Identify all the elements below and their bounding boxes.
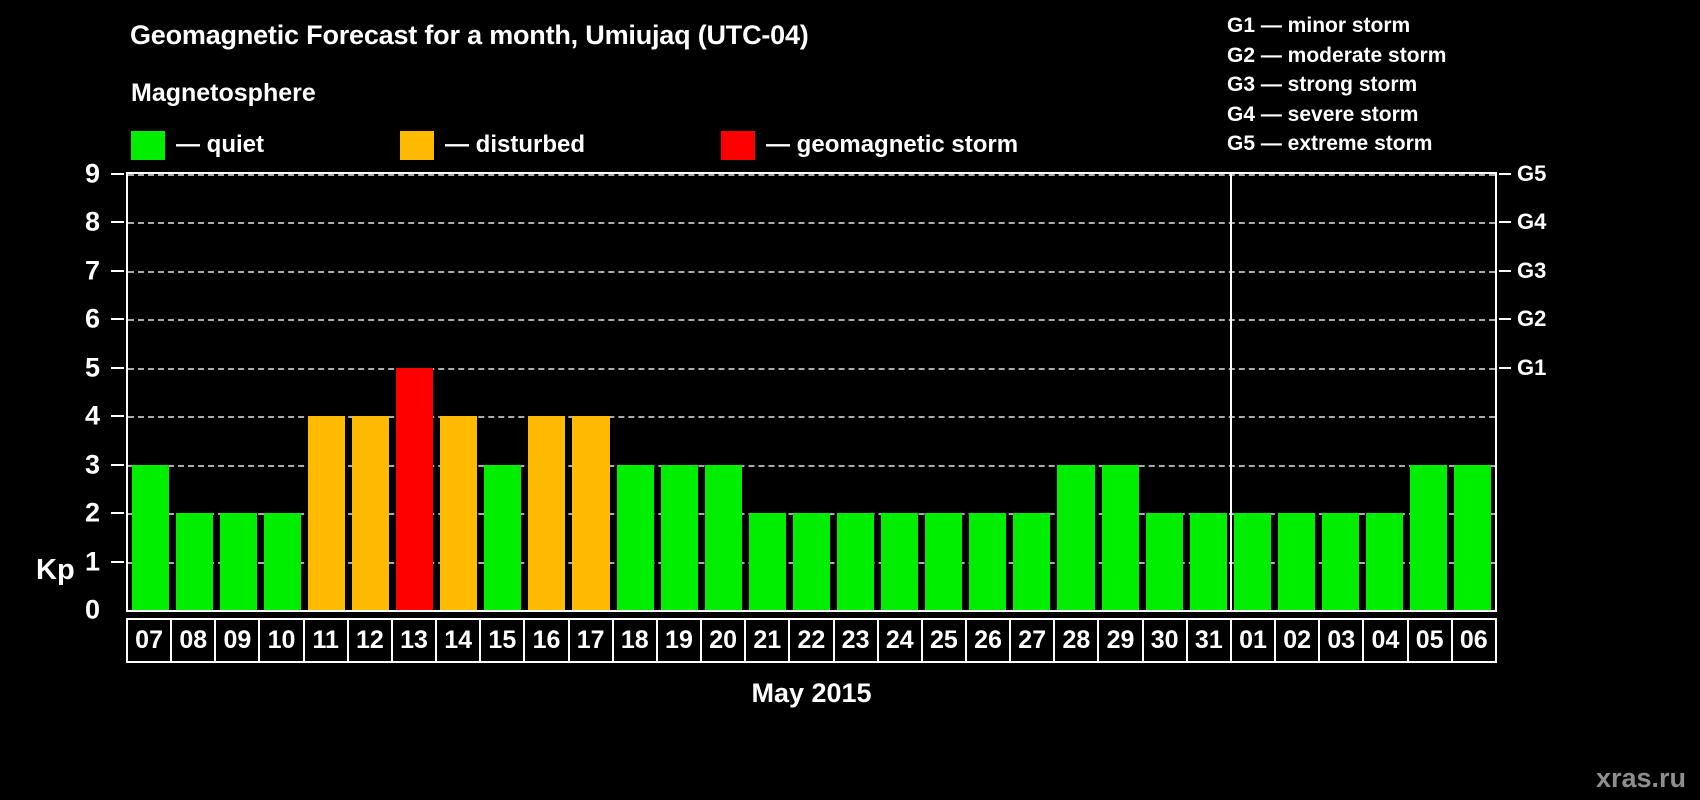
bar xyxy=(1410,465,1447,610)
date-cell: 23 xyxy=(833,620,877,661)
storm-scale-line: G2 — moderate storm xyxy=(1227,41,1446,71)
bar-slot xyxy=(878,174,922,610)
y-tick-mark xyxy=(111,221,124,223)
legend-item: — quiet xyxy=(131,131,264,160)
date-cell: 31 xyxy=(1186,620,1230,661)
legend-heading: Magnetosphere xyxy=(131,79,316,108)
bar xyxy=(1013,513,1050,610)
bar xyxy=(617,465,654,610)
date-cell: 08 xyxy=(170,620,214,661)
bar xyxy=(1234,513,1271,610)
date-cell: 03 xyxy=(1318,620,1362,661)
page-title: Geomagnetic Forecast for a month, Umiuja… xyxy=(130,20,809,51)
date-cell: 20 xyxy=(700,620,744,661)
bar-slot xyxy=(1230,174,1274,610)
bar xyxy=(1146,513,1183,610)
bar-slot xyxy=(569,174,613,610)
bar-slot xyxy=(304,174,348,610)
plot-inner xyxy=(128,174,1495,610)
x-axis-title: May 2015 xyxy=(126,678,1497,709)
date-cell: 09 xyxy=(214,620,258,661)
bar xyxy=(661,465,698,610)
bar xyxy=(484,465,521,610)
bar xyxy=(396,368,433,610)
bar xyxy=(220,513,257,610)
bar-slot xyxy=(966,174,1010,610)
bar-slot xyxy=(172,174,216,610)
storm-level-axis: G1G2G3G4G5 xyxy=(1499,172,1699,616)
date-cell: 01 xyxy=(1230,620,1274,661)
bar-slot xyxy=(1319,174,1363,610)
bar xyxy=(132,465,169,610)
bar-slot xyxy=(260,174,304,610)
storm-tick-label: G1 xyxy=(1517,355,1546,381)
legend-item-label: — quiet xyxy=(176,131,264,159)
bar xyxy=(308,416,345,610)
date-cell: 07 xyxy=(126,620,170,661)
bar xyxy=(1322,513,1359,610)
y-tick-label: 1 xyxy=(40,546,100,577)
legend-item: — geomagnetic storm xyxy=(721,131,1018,160)
bar-slot xyxy=(745,174,789,610)
bar xyxy=(969,513,1006,610)
bar-slot xyxy=(393,174,437,610)
bar xyxy=(925,513,962,610)
bar-slot xyxy=(922,174,966,610)
legend: — quiet— disturbed— geomagnetic storm xyxy=(131,131,1018,159)
bar xyxy=(705,465,742,610)
legend-swatch xyxy=(400,131,434,160)
y-tick-mark xyxy=(111,367,124,369)
bar xyxy=(793,513,830,610)
bar-slot xyxy=(1010,174,1054,610)
bar xyxy=(749,513,786,610)
bar xyxy=(572,416,609,610)
bar-slot xyxy=(789,174,833,610)
bar-slot xyxy=(1142,174,1186,610)
bar-slot xyxy=(348,174,392,610)
storm-tick-mark xyxy=(1499,173,1511,175)
watermark: xras.ru xyxy=(1596,763,1686,794)
date-cell: 22 xyxy=(788,620,832,661)
date-cell: 11 xyxy=(303,620,347,661)
date-cell: 16 xyxy=(523,620,567,661)
bar xyxy=(1366,513,1403,610)
date-cell: 15 xyxy=(479,620,523,661)
date-cell: 13 xyxy=(391,620,435,661)
date-cell: 06 xyxy=(1451,620,1497,661)
date-cell: 04 xyxy=(1362,620,1406,661)
bar xyxy=(176,513,213,610)
bar-slot xyxy=(1363,174,1407,610)
storm-scale-line: G1 — minor storm xyxy=(1227,11,1446,41)
bar xyxy=(264,513,301,610)
bar-slot xyxy=(657,174,701,610)
y-tick-mark xyxy=(111,318,124,320)
y-tick-label: 7 xyxy=(40,255,100,286)
y-tick-label: 8 xyxy=(40,207,100,238)
date-cell: 26 xyxy=(965,620,1009,661)
bar-slot xyxy=(834,174,878,610)
y-tick-mark xyxy=(111,512,124,514)
date-cell: 29 xyxy=(1097,620,1141,661)
y-axis: Kp 0123456789 xyxy=(0,172,126,616)
bar-series xyxy=(128,174,1495,610)
date-cell: 17 xyxy=(568,620,612,661)
bar-slot xyxy=(1274,174,1318,610)
date-cell: 24 xyxy=(877,620,921,661)
date-axis: 0708091011121314151617181920212223242526… xyxy=(126,618,1497,663)
y-tick-label: 5 xyxy=(40,352,100,383)
bar xyxy=(1102,465,1139,610)
bar xyxy=(837,513,874,610)
y-tick-mark xyxy=(111,415,124,417)
y-tick-mark xyxy=(111,464,124,466)
bar xyxy=(1278,513,1315,610)
bar xyxy=(1454,465,1491,610)
storm-tick-mark xyxy=(1499,367,1511,369)
bar-slot xyxy=(1098,174,1142,610)
bar-slot xyxy=(437,174,481,610)
bar-slot xyxy=(1186,174,1230,610)
storm-tick-mark xyxy=(1499,221,1511,223)
date-cell: 10 xyxy=(258,620,302,661)
y-tick-label: 4 xyxy=(40,401,100,432)
storm-tick-mark xyxy=(1499,270,1511,272)
date-cell: 18 xyxy=(612,620,656,661)
y-tick-label: 2 xyxy=(40,498,100,529)
date-cell: 21 xyxy=(744,620,788,661)
bar-slot xyxy=(128,174,172,610)
bar xyxy=(528,416,565,610)
storm-scale-key: G1 — minor stormG2 — moderate stormG3 — … xyxy=(1227,11,1446,159)
y-tick-label: 3 xyxy=(40,449,100,480)
y-tick-mark xyxy=(111,270,124,272)
storm-tick-label: G5 xyxy=(1517,161,1546,187)
storm-scale-line: G3 — strong storm xyxy=(1227,70,1446,100)
legend-swatch xyxy=(721,131,755,160)
bar-slot xyxy=(525,174,569,610)
plot-area xyxy=(126,172,1497,612)
date-cell: 02 xyxy=(1274,620,1318,661)
date-cell: 12 xyxy=(347,620,391,661)
storm-tick-label: G4 xyxy=(1517,209,1546,235)
legend-item: — disturbed xyxy=(400,131,585,160)
y-tick-label: 9 xyxy=(40,159,100,190)
y-tick-label: 0 xyxy=(40,595,100,626)
legend-item-label: — disturbed xyxy=(445,131,585,159)
bar-slot xyxy=(216,174,260,610)
date-cell: 25 xyxy=(921,620,965,661)
bar xyxy=(1057,465,1094,610)
bar xyxy=(352,416,389,610)
storm-scale-line: G4 — severe storm xyxy=(1227,100,1446,130)
date-cell: 30 xyxy=(1142,620,1186,661)
legend-swatch xyxy=(131,131,165,160)
today-marker-line xyxy=(1230,174,1232,610)
bar-slot xyxy=(701,174,745,610)
bar xyxy=(440,416,477,610)
y-tick-mark xyxy=(111,561,124,563)
legend-item-label: — geomagnetic storm xyxy=(766,131,1018,159)
storm-tick-label: G2 xyxy=(1517,306,1546,332)
y-tick-mark xyxy=(111,173,124,175)
storm-tick-label: G3 xyxy=(1517,258,1546,284)
storm-tick-mark xyxy=(1499,318,1511,320)
bar-slot xyxy=(1054,174,1098,610)
bar-slot xyxy=(481,174,525,610)
y-tick-label: 6 xyxy=(40,304,100,335)
date-cell: 28 xyxy=(1053,620,1097,661)
storm-scale-line: G5 — extreme storm xyxy=(1227,129,1446,159)
date-cell: 27 xyxy=(1009,620,1053,661)
bar xyxy=(881,513,918,610)
bar xyxy=(1190,513,1227,610)
bar-slot xyxy=(1451,174,1495,610)
date-cell: 19 xyxy=(656,620,700,661)
bar-slot xyxy=(613,174,657,610)
date-cell: 14 xyxy=(435,620,479,661)
date-cell: 05 xyxy=(1407,620,1451,661)
bar-slot xyxy=(1407,174,1451,610)
